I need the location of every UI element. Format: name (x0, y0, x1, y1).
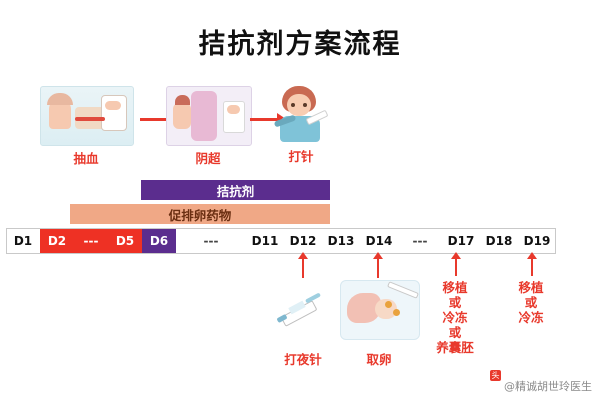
step-label: 阴超 (160, 148, 256, 167)
callout-label: 打夜针 (268, 352, 338, 367)
callout-line: 或 (425, 295, 485, 310)
day-timeline-border (6, 228, 556, 254)
watermark: 头条@精诚胡世玲医生 (490, 370, 592, 394)
callout-line: 或 (501, 295, 561, 310)
step-label: 打针 (258, 146, 344, 165)
injection-illustration (272, 84, 330, 144)
bar-ovulation-drugs: 促排卵药物 (70, 204, 330, 224)
egg-retrieval-illustration (340, 280, 420, 340)
callout-line: 移植 (425, 280, 485, 295)
step-ultrasound: 阴超 (160, 86, 256, 166)
bar-label: 拮抗剂 (217, 181, 255, 200)
toutiao-icon: 头条 (490, 370, 501, 381)
step-blood-draw: 抽血 (36, 86, 136, 166)
step-label: 抽血 (36, 148, 136, 167)
blood-draw-illustration (40, 86, 134, 146)
ultrasound-illustration (166, 86, 252, 146)
callout-line: 或 (425, 325, 485, 340)
bar-antagonist: 拮抗剂 (141, 180, 330, 200)
callout-line: 养囊胚 (425, 340, 485, 355)
diagram-canvas: 拮抗剂方案流程 抽血 阴超 (0, 0, 600, 400)
syringe-illustration (275, 282, 331, 338)
watermark-text: @精诚胡世玲医生 (504, 380, 592, 393)
bar-label: 促排卵药物 (169, 205, 232, 224)
callout-label: 取卵 (344, 352, 414, 367)
callout-line: 冷冻 (425, 310, 485, 325)
callout-line: 移植 (501, 280, 561, 295)
callout-line: 冷冻 (501, 310, 561, 325)
page-title: 拮抗剂方案流程 (0, 22, 600, 61)
step-injection: 打针 (258, 84, 344, 166)
